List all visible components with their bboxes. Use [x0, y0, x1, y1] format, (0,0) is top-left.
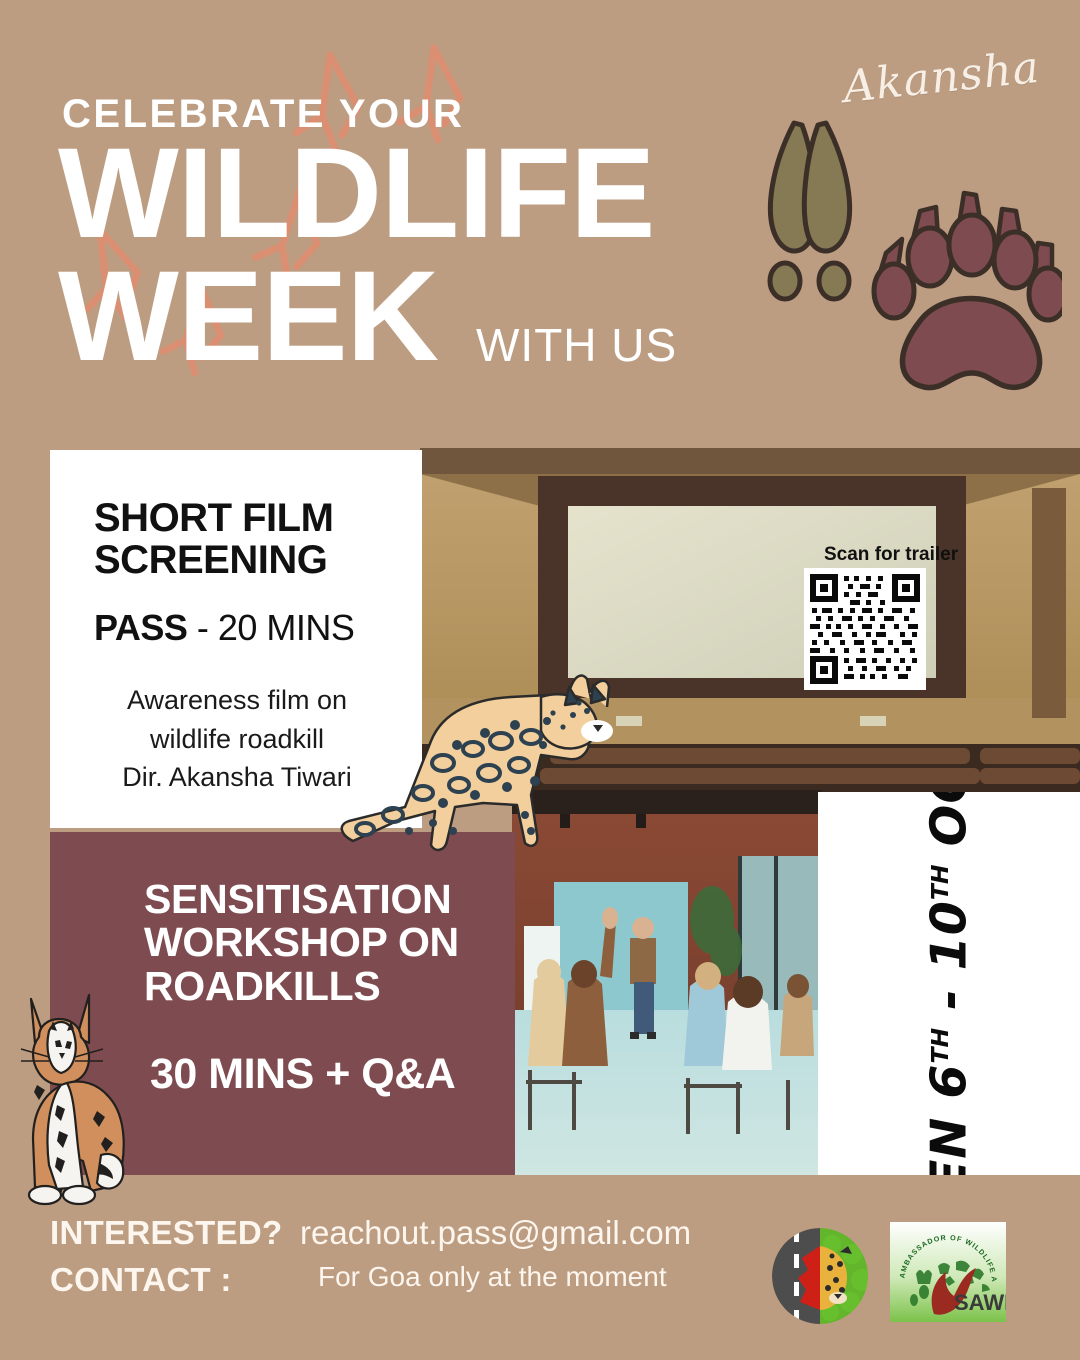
lynx-illustration — [5, 965, 160, 1210]
date-day-end-suffix: TH — [926, 864, 954, 900]
workshop-heading: SENSITISATION WORKSHOP ON ROADKILLS — [144, 878, 493, 1008]
pass-logo — [772, 1228, 868, 1324]
contact-values: reachout.pass@gmail.com For Goa only at … — [300, 1210, 691, 1297]
contact-label: CONTACT : — [50, 1257, 282, 1304]
short-film-heading: SHORT FILM SCREENING — [94, 498, 396, 581]
artist-signature: Akansha — [841, 42, 1042, 113]
pass-label: PASS — [94, 607, 187, 648]
poster-canvas: Akansha CELEBRATE YOUR WILDLIFE WEEK WIT… — [0, 0, 1080, 1360]
date-text: BETWEEN 6TH - 10TH OCTOBER — [921, 792, 978, 1175]
paw-prints-group — [742, 105, 1062, 405]
contact-labels: INTERESTED? CONTACT : — [50, 1210, 282, 1304]
date-day-start-suffix: TH — [926, 1027, 954, 1063]
deer-hoof-print-icon — [770, 123, 850, 299]
date-month: OCTOBER — [921, 792, 978, 846]
interested-label: INTERESTED? — [50, 1210, 282, 1257]
date-card: BETWEEN 6TH - 10TH OCTOBER — [818, 792, 1080, 1175]
workshop-duration: 30 MINS + Q&A — [144, 1050, 493, 1099]
leopard-illustration — [335, 645, 620, 870]
date-separator: - — [921, 988, 978, 1009]
pass-duration: - 20 MINS — [197, 607, 355, 648]
desc-line-3: Dir. Akansha Tiwari — [122, 762, 352, 792]
date-day-end: 10 — [921, 900, 978, 970]
desc-line-2: wildlife roadkill — [150, 724, 324, 754]
sawe-logo: AMBASSADOR OF WILDLIFE AND ENVIRONMENT S… — [890, 1222, 1006, 1322]
workshop-heading-line-1: SENSITISATION — [144, 876, 451, 922]
sawe-logo-text: SAWE — [954, 1290, 1006, 1315]
qr-code-icon — [804, 568, 926, 690]
date-day-start: 6 — [921, 1063, 978, 1098]
short-film-pass-line: PASS - 20 MINS — [94, 607, 396, 649]
bear-paw-print-icon — [874, 193, 1062, 388]
short-film-heading-line-2: SCREENING — [94, 538, 327, 582]
short-film-heading-line-1: SHORT FILM — [94, 496, 333, 540]
workshop-heading-line-3: ROADKILLS — [144, 963, 380, 1009]
title-suffix: WITH US — [476, 318, 677, 372]
contact-note: For Goa only at the moment — [300, 1257, 691, 1297]
qr-caption: Scan for trailer — [824, 544, 959, 565]
date-prefix: BETWEEN — [921, 1116, 978, 1175]
desc-line-1: Awareness film on — [127, 685, 347, 715]
title-line-1: WILDLIFE — [58, 122, 654, 265]
workshop-heading-line-2: WORKSHOP ON — [144, 919, 459, 965]
contact-email[interactable]: reachout.pass@gmail.com — [300, 1210, 691, 1257]
